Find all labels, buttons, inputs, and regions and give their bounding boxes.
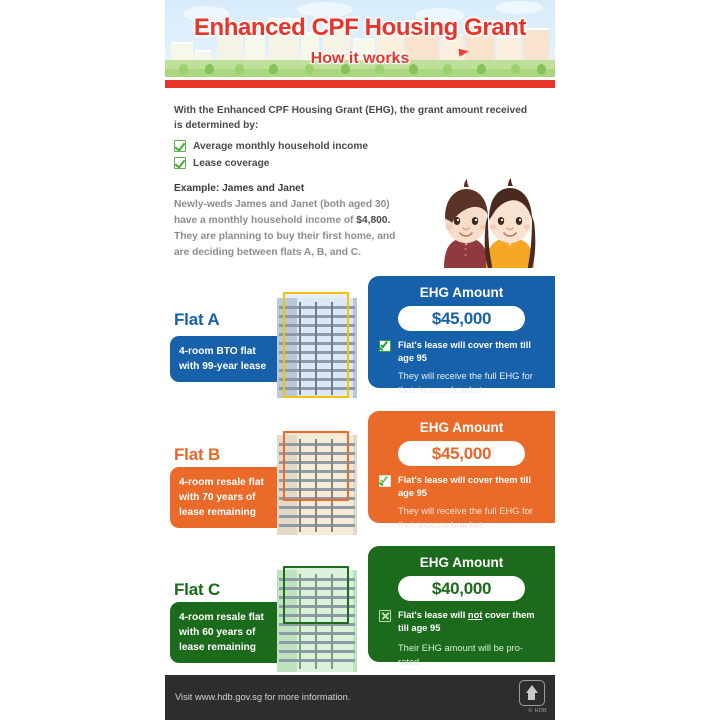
example-section: Example: James and Janet Newly-weds Jame… xyxy=(174,183,424,261)
hdb-block-green-icon xyxy=(269,552,365,672)
flat-row-b: Flat B 4-room resale flat with 70 years … xyxy=(165,411,555,535)
flat-c-name: Flat C xyxy=(174,580,220,600)
example-line-3: They are planning to buy their first hom… xyxy=(174,231,395,242)
example-line-4: are deciding between flats A, B, and C. xyxy=(174,247,361,258)
ehg-amount-value: $40,000 xyxy=(398,576,525,601)
criteria-label: Average monthly household income xyxy=(193,141,368,152)
checkbox-checked-icon xyxy=(174,157,186,169)
lease-coverage-bracket xyxy=(283,292,349,398)
criteria-label: Lease coverage xyxy=(193,158,269,169)
flat-row-a: Flat A 4-room BTO flat with 99-year leas… xyxy=(165,276,555,400)
note-emphasis: not xyxy=(468,610,482,620)
checkbox-checked-icon xyxy=(174,140,186,152)
ehg-panel-title: EHG Amount xyxy=(368,546,555,570)
ehg-note-strong: Flat's lease will cover them till age 95 xyxy=(398,474,544,500)
ehg-note: Flat's lease will not cover them till ag… xyxy=(368,601,555,635)
list-item: Average monthly household income xyxy=(174,140,534,152)
ehg-note-sub: They will receive the full EHG for their… xyxy=(368,500,555,532)
lease-coverage-bracket xyxy=(283,566,349,624)
infographic-sheet: Enhanced CPF Housing Grant How it works … xyxy=(165,0,555,720)
checkbox-checked-icon xyxy=(379,475,391,487)
example-income-amount: $4,800. xyxy=(356,215,390,226)
example-line-1: Newly-weds James and Janet (both aged 30… xyxy=(174,199,390,210)
ehg-note-strong: Flat's lease will cover them till age 95 xyxy=(398,339,544,365)
ehg-amount-value: $45,000 xyxy=(398,306,525,331)
example-body: Newly-weds James and Janet (both aged 30… xyxy=(174,197,424,261)
flat-a-name: Flat A xyxy=(174,310,219,330)
checkbox-checked-icon xyxy=(379,340,391,352)
ehg-amount-value: $45,000 xyxy=(398,441,525,466)
footer-copyright: © HDB xyxy=(528,708,547,714)
ehg-note-sub: Their EHG amount will be pro-rated. xyxy=(368,635,555,669)
note-pre: Flat's lease will xyxy=(398,610,468,620)
hdb-block-orange-icon xyxy=(269,417,365,535)
lease-coverage-bracket xyxy=(283,431,349,501)
checkbox-crossed-icon xyxy=(379,610,391,622)
flat-c-description: 4-room resale flat with 60 years of leas… xyxy=(170,602,285,663)
ehg-panel-title: EHG Amount xyxy=(368,276,555,300)
example-title: Example: James and Janet xyxy=(174,183,424,194)
hdb-logo-icon xyxy=(519,680,545,706)
ehg-panel-b: EHG Amount $45,000 Flat's lease will cov… xyxy=(368,411,555,523)
example-line-2-pre: have a monthly household income of xyxy=(174,215,356,226)
couple-illustration xyxy=(418,176,555,270)
hdb-block-blue-icon xyxy=(269,280,365,398)
intro-paragraph: With the Enhanced CPF Housing Grant (EHG… xyxy=(174,103,534,133)
ehg-note: Flat's lease will cover them till age 95 xyxy=(368,466,555,500)
flat-b-name: Flat B xyxy=(174,445,220,465)
intro-section: With the Enhanced CPF Housing Grant (EHG… xyxy=(174,103,534,174)
list-item: Lease coverage xyxy=(174,157,534,169)
ehg-panel-title: EHG Amount xyxy=(368,411,555,435)
flat-row-c: Flat C 4-room resale flat with 60 years … xyxy=(165,546,555,672)
page-subtitle: How it works xyxy=(165,50,555,68)
criteria-list: Average monthly household income Lease c… xyxy=(174,140,534,169)
footer-bar: Visit www.hdb.gov.sg for more informatio… xyxy=(165,675,555,720)
flat-b-description: 4-room resale flat with 70 years of leas… xyxy=(170,467,285,528)
flat-a-description: 4-room BTO flat with 99-year lease xyxy=(170,336,285,382)
header-banner: Enhanced CPF Housing Grant How it works xyxy=(165,0,555,88)
ehg-note: Flat's lease will cover them till age 95 xyxy=(368,331,555,365)
ehg-note-strong: Flat's lease will not cover them till ag… xyxy=(398,609,544,635)
page-title: Enhanced CPF Housing Grant xyxy=(165,14,555,42)
banner-divider-red xyxy=(165,80,555,88)
footer-text: Visit www.hdb.gov.sg for more informatio… xyxy=(175,692,350,702)
ehg-panel-a: EHG Amount $45,000 Flat's lease will cov… xyxy=(368,276,555,388)
infographic-page: Enhanced CPF Housing Grant How it works … xyxy=(0,0,720,720)
ehg-panel-c: EHG Amount $40,000 Flat's lease will not… xyxy=(368,546,555,662)
ehg-note-sub: They will receive the full EHG for their… xyxy=(368,365,555,397)
